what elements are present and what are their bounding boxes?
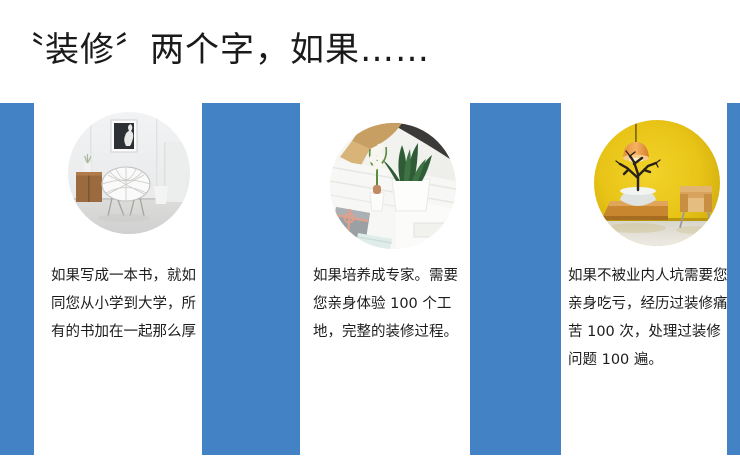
column-1-text: 如果写成一本书，就如同您从小学到大学，所有的书加在一起那么厚 xyxy=(51,262,196,346)
page-title: 〝装修〞两个字，如果…… xyxy=(10,28,430,72)
slide-canvas: 〝装修〞两个字，如果…… xyxy=(0,0,740,460)
white-interior-wire-chair-photo xyxy=(68,112,190,234)
column-3-text: 如果不被业内人坑需要您亲身吃亏，经历过装修痛苦 100 次，处理过装修问题 10… xyxy=(568,262,728,374)
accent-bar-left xyxy=(0,103,34,455)
yellow-wall-bonsai-room-photo xyxy=(594,120,720,246)
accent-bar-middle-1 xyxy=(202,103,300,455)
column-2-text: 如果培养成专家。需要您亲身体验 100 个工地，完整的装修过程。 xyxy=(313,262,463,346)
white-table-potted-plant-photo xyxy=(330,123,456,249)
accent-bar-right xyxy=(727,103,740,455)
accent-bar-middle-2 xyxy=(470,103,561,455)
